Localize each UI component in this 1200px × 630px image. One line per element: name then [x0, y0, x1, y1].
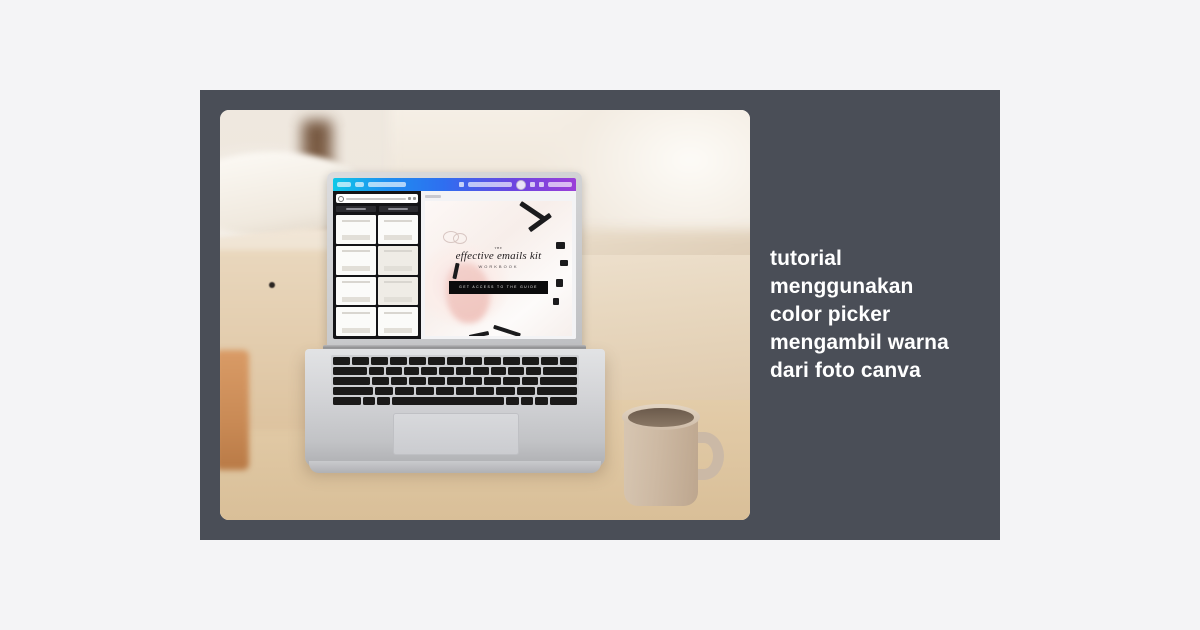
keyboard-row	[333, 377, 577, 385]
template-thumbnail[interactable]	[336, 246, 376, 275]
key	[503, 357, 520, 365]
toolbar-document-title[interactable]	[368, 182, 406, 187]
tab-styles[interactable]	[379, 206, 419, 212]
search-icon	[338, 196, 344, 202]
canvas-page-label	[425, 195, 441, 198]
key	[537, 387, 577, 395]
key	[436, 387, 454, 395]
key	[333, 357, 350, 365]
key	[456, 367, 471, 375]
laptop-trackpad[interactable]	[393, 413, 519, 455]
design-canvas[interactable]: THE effective emails kit WORKBOOK GET AC…	[425, 201, 572, 336]
key	[541, 357, 558, 365]
key	[508, 367, 523, 375]
search-icon[interactable]	[459, 182, 464, 187]
small-object-on-table	[269, 282, 275, 288]
key	[535, 397, 548, 405]
spacebar-key	[392, 397, 505, 405]
editor-body: THE effective emails kit WORKBOOK GET AC…	[333, 191, 576, 339]
key	[503, 377, 520, 385]
template-thumbnail[interactable]	[378, 307, 418, 336]
key	[517, 387, 535, 395]
laptop-keyboard[interactable]	[331, 355, 579, 407]
keyboard-row	[333, 387, 577, 395]
key	[496, 387, 514, 395]
laptop-base-front	[309, 461, 601, 473]
hero-photo: THE effective emails kit WORKBOOK GET AC…	[220, 110, 750, 520]
template-thumbnail[interactable]	[378, 277, 418, 306]
template-thumbnail[interactable]	[336, 307, 376, 336]
key	[473, 367, 488, 375]
share-icon[interactable]	[539, 182, 544, 187]
template-thumbnail[interactable]	[378, 215, 418, 244]
key	[333, 367, 367, 375]
key	[447, 357, 464, 365]
editor-toolbar[interactable]	[333, 178, 576, 191]
key	[404, 367, 419, 375]
key	[550, 397, 578, 405]
panel-tabs	[336, 206, 418, 212]
key	[375, 387, 393, 395]
mug-interior	[628, 408, 694, 427]
key	[522, 357, 539, 365]
key	[543, 367, 577, 375]
key	[363, 397, 376, 405]
design-subtitle: WORKBOOK	[425, 264, 572, 269]
key	[428, 377, 445, 385]
design-cta-button[interactable]: GET ACCESS TO THE GUIDE	[449, 281, 549, 294]
key	[456, 387, 474, 395]
key	[560, 357, 577, 365]
key	[476, 387, 494, 395]
key	[491, 367, 506, 375]
glasses-icon	[453, 233, 467, 244]
key	[333, 397, 361, 405]
key	[377, 397, 390, 405]
key	[447, 377, 464, 385]
key	[386, 367, 401, 375]
key	[540, 377, 577, 385]
headline-column: tutorial menggunakan color picker mengam…	[770, 90, 1000, 540]
content-card: THE effective emails kit WORKBOOK GET AC…	[200, 90, 1000, 540]
template-thumbnail[interactable]	[378, 246, 418, 275]
laptop-base	[305, 349, 605, 467]
key	[526, 367, 541, 375]
key	[372, 377, 389, 385]
stationery-accent-icon	[493, 325, 521, 336]
key	[521, 397, 534, 405]
keyboard-row	[333, 397, 577, 405]
template-thumbnail[interactable]	[336, 277, 376, 306]
design-title: effective emails kit	[425, 250, 572, 263]
key	[421, 367, 436, 375]
page-root: THE effective emails kit WORKBOOK GET AC…	[0, 0, 1200, 630]
design-text-group: THE effective emails kit WORKBOOK	[425, 247, 572, 269]
key	[333, 377, 370, 385]
close-icon[interactable]	[413, 197, 416, 200]
key	[439, 367, 454, 375]
filter-icon[interactable]	[408, 197, 411, 200]
key	[522, 377, 539, 385]
stationery-accent-icon	[469, 331, 489, 336]
orange-object-shape	[220, 350, 249, 470]
toolbar-upgrade-button[interactable]	[468, 182, 512, 187]
search-placeholder-text	[346, 198, 406, 200]
panel-search-input[interactable]	[336, 194, 418, 203]
stationery-accent-icon	[556, 279, 563, 287]
toolbar-file-button[interactable]	[355, 182, 364, 187]
avatar[interactable]	[516, 180, 526, 190]
canvas-toolbar[interactable]	[425, 194, 572, 199]
design-cta-label: GET ACCESS TO THE GUIDE	[459, 285, 538, 289]
key	[409, 357, 426, 365]
keyboard-row	[333, 367, 577, 375]
keyboard-row	[333, 357, 577, 365]
tab-templates[interactable]	[336, 206, 376, 212]
laptop-lid: THE effective emails kit WORKBOOK GET AC…	[327, 172, 582, 347]
key	[333, 387, 373, 395]
key	[506, 397, 519, 405]
toolbar-download-button[interactable]	[548, 182, 572, 187]
key	[369, 367, 384, 375]
key	[484, 377, 501, 385]
key	[484, 357, 501, 365]
editor-side-panel	[333, 191, 421, 339]
editor-canvas-area: THE effective emails kit WORKBOOK GET AC…	[421, 191, 576, 339]
key	[390, 357, 407, 365]
key	[465, 377, 482, 385]
page-title: tutorial menggunakan color picker mengam…	[770, 245, 955, 385]
key	[395, 387, 413, 395]
coffee-mug	[618, 398, 723, 508]
key	[371, 357, 388, 365]
template-thumbnail[interactable]	[336, 215, 376, 244]
template-thumbnail-grid	[336, 215, 418, 336]
key	[416, 387, 434, 395]
help-icon[interactable]	[530, 182, 535, 187]
toolbar-home-button[interactable]	[337, 182, 351, 187]
key	[465, 357, 482, 365]
key	[391, 377, 408, 385]
stationery-accent-icon	[553, 298, 559, 305]
laptop: THE effective emails kit WORKBOOK GET AC…	[305, 172, 605, 482]
laptop-screen: THE effective emails kit WORKBOOK GET AC…	[333, 178, 576, 339]
key	[352, 357, 369, 365]
key	[409, 377, 426, 385]
key	[428, 357, 445, 365]
